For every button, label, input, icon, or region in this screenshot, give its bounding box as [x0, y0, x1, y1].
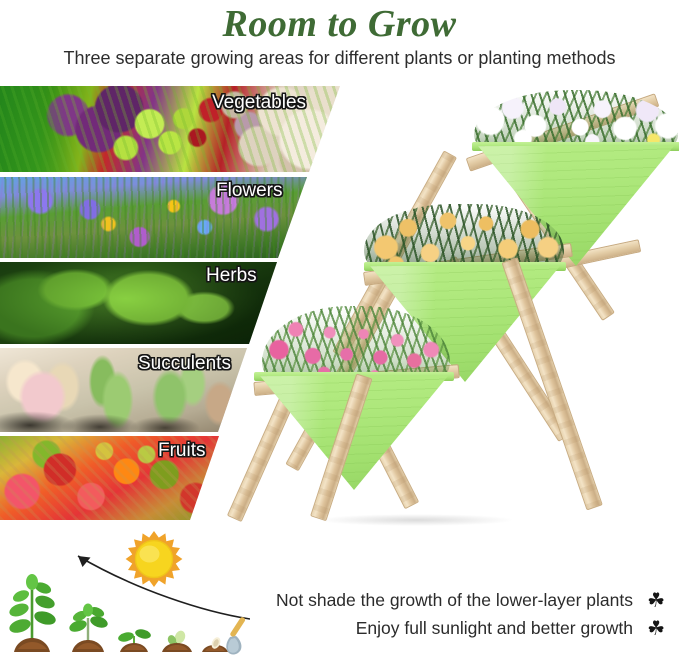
page-title: Room to Grow [0, 2, 679, 46]
clover-icon: ☘ [647, 591, 665, 611]
garden-trowel-icon [226, 616, 246, 654]
growth-stage-3 [117, 628, 152, 652]
photo-strip-fruits: Fruits [0, 436, 222, 520]
product-floor-shadow [286, 512, 546, 528]
growth-stage-4 [162, 629, 192, 652]
benefit-text-1: Not shade the growth of the lower-layer … [276, 590, 633, 611]
growth-stage-1 [8, 574, 58, 652]
sun-icon [126, 531, 183, 587]
photo-strip-label: Succulents [138, 353, 231, 375]
growth-stage-5 [202, 636, 228, 652]
infographic-page: Room to Grow Three separate growing area… [0, 0, 679, 656]
benefit-text-2: Enjoy full sunlight and better growth [356, 618, 633, 639]
growth-stage-2 [68, 604, 109, 653]
page-subtitle: Three separate growing areas for differe… [0, 48, 679, 69]
plant-growth-diagram [4, 528, 250, 656]
photo-strip-succulents: Succulents [0, 348, 250, 432]
photo-strip-label: Fruits [158, 440, 206, 462]
growth-diagram-svg [4, 528, 250, 656]
plant-stand-product-image [246, 84, 679, 532]
clover-icon: ☘ [647, 619, 665, 639]
photo-strip-herbs: Herbs [0, 262, 280, 344]
